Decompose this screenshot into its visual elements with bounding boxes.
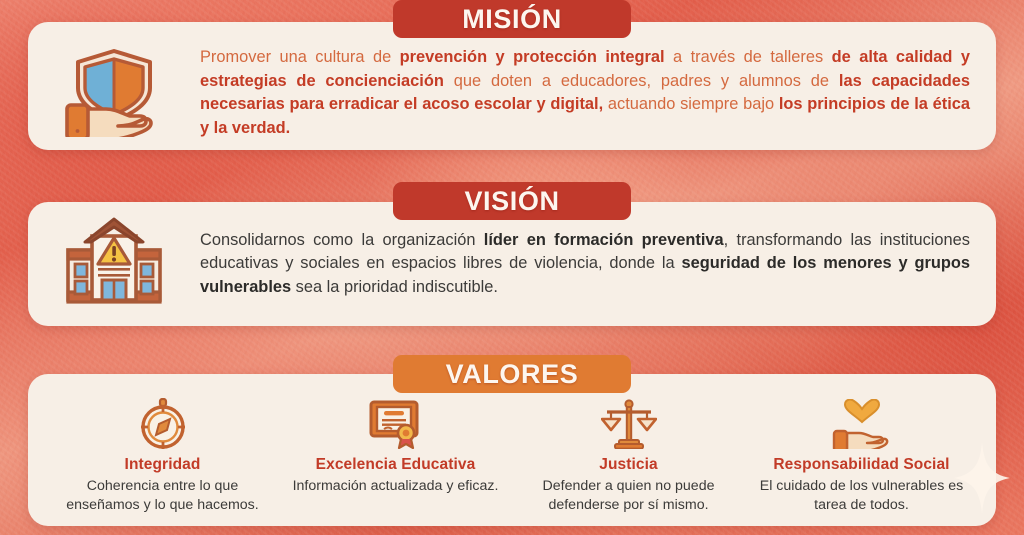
scales-of-justice-icon [601, 398, 657, 450]
value-title: Justicia [599, 456, 658, 474]
vision-badge: VISIÓN [393, 182, 631, 220]
value-item-integridad: Integridad Coherencia entre lo que enseñ… [46, 398, 279, 516]
value-description: Información actualizada y eficaz. [293, 477, 499, 496]
value-description: Defender a quien no puede defenderse por… [518, 477, 739, 515]
value-title: Integridad [125, 456, 201, 474]
compass-icon [139, 398, 187, 450]
mission-icon-cell [28, 45, 200, 142]
mission-text-cell: Promover una cultura de prevención y pro… [200, 46, 996, 140]
value-description: El cuidado de los vulnerables es tarea d… [751, 477, 972, 515]
value-item-responsabilidad: Responsabilidad Social El cuidado de los… [745, 398, 978, 516]
vision-paragraph: Consolidarnos como la organización líder… [200, 229, 970, 300]
value-description: Coherencia entre lo que enseñamos y lo q… [52, 477, 273, 515]
school-warning-icon [64, 216, 164, 313]
hand-holding-heart-icon [831, 398, 893, 450]
certificate-icon [368, 398, 424, 450]
mission-badge: MISIÓN [393, 0, 631, 38]
value-item-excelencia: Excelencia Educativa Información actuali… [279, 398, 512, 516]
value-title: Excelencia Educativa [316, 456, 476, 474]
vision-text-cell: Consolidarnos como la organización líder… [200, 229, 996, 300]
vision-card: Consolidarnos como la organización líder… [28, 202, 996, 326]
values-grid: Integridad Coherencia entre lo que enseñ… [28, 374, 996, 526]
mission-paragraph: Promover una cultura de prevención y pro… [200, 46, 970, 140]
mission-card: Promover una cultura de prevención y pro… [28, 22, 996, 150]
values-badge: VALORES [393, 355, 631, 393]
shield-on-hand-icon [58, 45, 170, 142]
value-item-justicia: Justicia Defender a quien no puede defen… [512, 398, 745, 516]
values-card: Integridad Coherencia entre lo que enseñ… [28, 374, 996, 526]
value-title: Responsabilidad Social [773, 456, 949, 474]
vision-icon-cell [28, 216, 200, 313]
